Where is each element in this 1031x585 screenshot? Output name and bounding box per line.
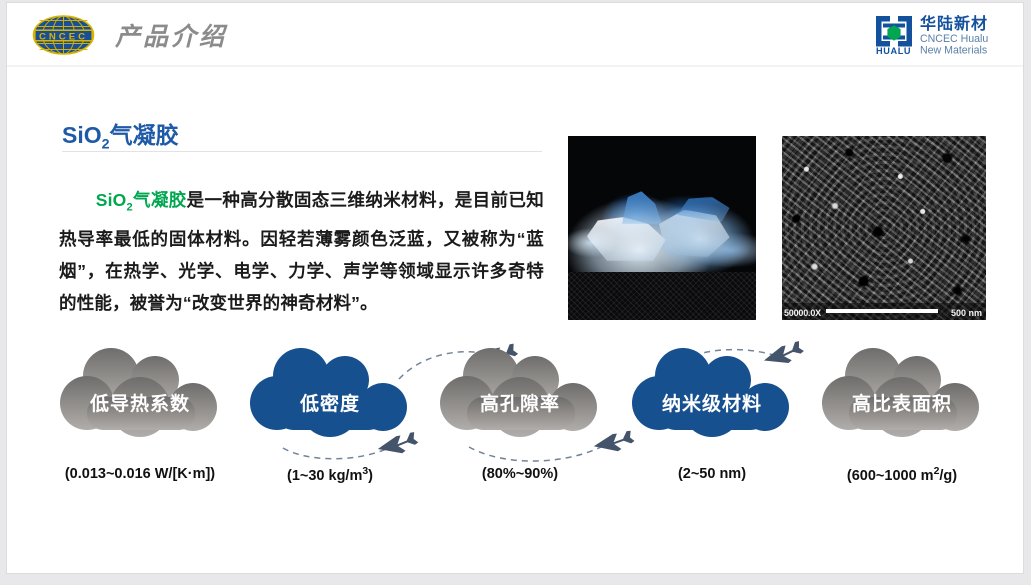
- hualu-mark-text: HUALU: [876, 46, 911, 56]
- cncec-hualu-logo: HUALU 华陆新材 CNCEC Hualu New Materials: [874, 13, 1009, 57]
- header-divider: [7, 65, 1023, 67]
- sem-magnification-label: 50000.0X: [784, 308, 821, 318]
- sem-microstructure-photo: 50000.0X 500 nm: [782, 136, 986, 320]
- property-caption: (0.013~0.016 W/[K·m]): [31, 466, 249, 482]
- caption-prefix: (600~1000 m: [847, 468, 934, 484]
- intro-paragraph: SiO2气凝胶是一种高分散固态三维纳米材料，是目前已知热导率最低的固体材料。因轻…: [59, 184, 544, 320]
- property-caption: (80%~90%): [411, 466, 629, 482]
- section-heading-prefix: SiO: [62, 122, 102, 148]
- sem-scalebar-line: [826, 309, 938, 313]
- property-high-porosity[interactable]: 高孔隙率 (80%~90%): [425, 331, 615, 521]
- slide-canvas: CNCEC 产品介绍 HUALU 华陆新材 CNCEC Hualu New Ma…: [7, 3, 1023, 573]
- property-low-density[interactable]: 低密度 (1~30 kg/m3): [235, 331, 425, 521]
- cloud-shape-icon: [45, 345, 235, 441]
- property-caption: (600~1000 m2/g): [793, 466, 1011, 484]
- properties-row: 低导热系数 (0.013~0.016 W/[K·m]) 低密度 (1~30 kg…: [7, 331, 1023, 521]
- aerogel-sample-photo: [568, 136, 756, 320]
- hualu-logo-en1: CNCEC Hualu: [920, 33, 988, 45]
- heading-divider: [62, 151, 542, 152]
- slide-header: CNCEC 产品介绍 HUALU 华陆新材 CNCEC Hualu New Ma…: [7, 3, 1023, 65]
- caption-suffix: ): [368, 468, 373, 484]
- cloud-shape-icon: [617, 345, 807, 441]
- paragraph-highlight-suffix: 气凝胶: [133, 190, 187, 210]
- paragraph-highlight: SiO2气凝胶: [96, 190, 187, 210]
- cloud-shape-icon: [235, 345, 425, 441]
- hualu-logo-cn: 华陆新材: [920, 14, 988, 33]
- caption-prefix: (1~30 kg/m: [287, 468, 362, 484]
- paragraph-highlight-prefix: SiO: [96, 190, 127, 210]
- hualu-mark-icon: [876, 16, 912, 47]
- property-low-thermal-conductivity[interactable]: 低导热系数 (0.013~0.016 W/[K·m]): [45, 331, 235, 521]
- sem-photo-texture: [782, 136, 986, 320]
- property-high-specific-surface-area[interactable]: 高比表面积 (600~1000 m2/g): [807, 331, 997, 521]
- hualu-logo-en2: New Materials: [920, 45, 987, 57]
- cncec-logo: CNCEC: [21, 12, 106, 58]
- property-caption: (2~50 nm): [603, 466, 821, 482]
- section-heading: SiO2气凝胶: [62, 116, 179, 153]
- aerogel-photo-mesh-surface: [568, 272, 756, 320]
- property-caption: (1~30 kg/m3): [221, 466, 439, 484]
- page-title: 产品介绍: [115, 17, 227, 53]
- section-heading-suffix: 气凝胶: [110, 122, 179, 148]
- cloud-shape-icon: [807, 345, 997, 441]
- cloud-shape-icon: [425, 345, 615, 441]
- property-nano-scale-material[interactable]: 纳米级材料 (2~50 nm): [617, 331, 807, 521]
- cncec-logo-text: CNCEC: [39, 31, 88, 42]
- caption-suffix: /g): [939, 468, 957, 484]
- sem-scale-label: 500 nm: [951, 308, 982, 318]
